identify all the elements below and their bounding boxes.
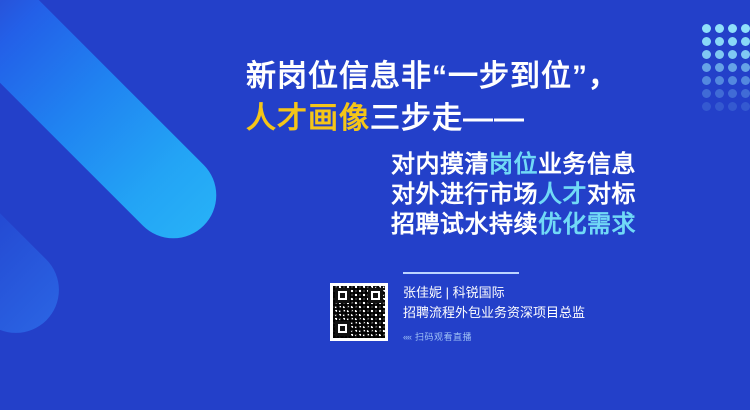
- grid-dot: [702, 76, 711, 85]
- grid-dot: [715, 50, 724, 59]
- grid-dot: [728, 76, 737, 85]
- qr-code[interactable]: [330, 283, 388, 341]
- diagonal-bar-tail: [0, 127, 77, 350]
- grid-dot: [728, 37, 737, 46]
- bullet-line-1: 对内摸清岗位业务信息: [336, 150, 636, 180]
- speaker-block: 张佳妮 | 科锐国际 招聘流程外包业务资深项目总监 «« 扫码观看直播: [403, 272, 663, 343]
- headline-block: 新岗位信息非“一步到位”， 人才画像三步走——: [246, 56, 646, 140]
- headline-line-2-rest: 三步走——: [370, 102, 525, 135]
- grid-dot: [702, 102, 711, 111]
- grid-dot: [715, 89, 724, 98]
- grid-dot: [728, 50, 737, 59]
- grid-dot: [741, 102, 750, 111]
- grid-dot: [741, 89, 750, 98]
- double-chevron-left-icon: ««: [403, 332, 411, 342]
- qr-code-pattern: [333, 286, 385, 338]
- grid-dot: [715, 37, 724, 46]
- grid-dot: [741, 37, 750, 46]
- grid-dot: [728, 102, 737, 111]
- grid-dot: [702, 50, 711, 59]
- grid-dot: [702, 63, 711, 72]
- bullet-3-pre: 招聘试水持续: [391, 211, 538, 238]
- scan-prompt[interactable]: «« 扫码观看直播: [403, 330, 663, 343]
- bullet-1-post: 业务信息: [538, 151, 636, 178]
- grid-dot: [728, 24, 737, 33]
- grid-dot: [728, 89, 737, 98]
- dot-grid-decoration: [702, 24, 750, 115]
- grid-dot: [715, 63, 724, 72]
- bullet-3-accent: 优化需求: [538, 211, 636, 238]
- grid-dot: [741, 76, 750, 85]
- qr-finder-top-left: [335, 288, 350, 303]
- grid-dot: [741, 63, 750, 72]
- headline-line-1: 新岗位信息非“一步到位”，: [246, 56, 646, 98]
- diagonal-bar-decoration: [0, 0, 234, 256]
- speaker-job-title: 招聘流程外包业务资深项目总监: [403, 303, 663, 323]
- promo-poster: 新岗位信息非“一步到位”， 人才画像三步走—— 对内摸清岗位业务信息 对外进行市…: [0, 0, 750, 410]
- bullet-line-3: 招聘试水持续优化需求: [336, 210, 636, 240]
- qr-finder-bottom-left: [335, 321, 350, 336]
- bullet-line-2: 对外进行市场人才对标: [336, 180, 636, 210]
- grid-dot: [715, 102, 724, 111]
- scan-prompt-text: 扫码观看直播: [415, 330, 472, 343]
- headline-line-2-accent: 人才画像: [246, 102, 370, 135]
- grid-dot: [728, 63, 737, 72]
- bullet-2-post: 对标: [587, 181, 636, 208]
- bullet-2-pre: 对外进行市场: [391, 181, 538, 208]
- bullet-1-pre: 对内摸清: [391, 151, 489, 178]
- speaker-divider: [403, 272, 519, 274]
- grid-dot: [741, 24, 750, 33]
- headline-line-1-text: 新岗位信息非“一步到位”，: [246, 60, 619, 93]
- headline-line-2: 人才画像三步走——: [246, 98, 646, 140]
- grid-dot: [702, 37, 711, 46]
- grid-dot: [741, 50, 750, 59]
- bullet-2-accent: 人才: [538, 181, 587, 208]
- grid-dot: [715, 76, 724, 85]
- bullet-block: 对内摸清岗位业务信息 对外进行市场人才对标 招聘试水持续优化需求: [336, 150, 636, 240]
- bullet-1-accent: 岗位: [489, 151, 538, 178]
- grid-dot: [702, 24, 711, 33]
- grid-dot: [702, 89, 711, 98]
- qr-finder-top-right: [368, 288, 383, 303]
- grid-dot: [715, 24, 724, 33]
- speaker-name: 张佳妮 | 科锐国际: [403, 283, 663, 303]
